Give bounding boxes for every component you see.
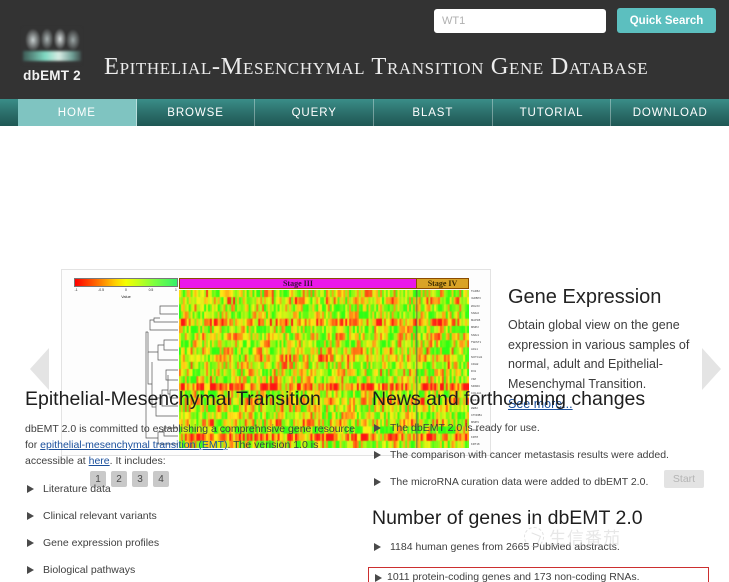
news-section-title: News and forthcoming changes [372,388,709,411]
heatmap-column-groups: Stage III Stage IV [179,278,469,289]
nav-item-home[interactable]: HOME [18,99,137,126]
search-area: Quick Search [434,8,716,33]
emt-description: dbEMT 2.0 is committed to establishing a… [25,421,360,469]
list-item[interactable]: Literature data [25,482,360,496]
row-label: VIM [471,379,491,382]
colorbar-ticks: -1 -0.5 0 0.5 1 [74,287,178,295]
list-item[interactable]: Clinical relevant variants [25,509,360,523]
carousel-prev-arrow-icon[interactable] [30,348,49,390]
row-label: MAP1B [471,320,491,323]
colorbar-tick-4: 1 [175,288,177,292]
page-root: Quick Search dbEMT 2 Epithelial-Mesenchy… [0,0,729,582]
row-label: CDH2 [471,364,491,367]
list-item: The comparison with cancer metastasis re… [372,448,709,462]
site-logo[interactable]: dbEMT 2 [16,26,88,92]
colorbar-tick-1: -0.5 [98,288,104,292]
news-list: The dbEMT 2.0 is ready for use. The comp… [372,421,709,489]
gene-counts-list: 1184 human genes from 2665 PubMed abstra… [372,540,709,582]
row-label: SNAI1 [471,335,491,338]
emt-section-title: Epithelial-Mesenchymal Transition [25,388,360,411]
emt-text-3: . It includes: [110,455,166,467]
nav-left-edge [0,99,18,126]
row-label: NOTCH1 [471,357,491,360]
gene-counts-section-title: Number of genes in dbEMT 2.0 [372,507,709,530]
list-item-highlighted: 1011 protein-coding genes and 173 non-co… [368,567,709,582]
column-group-stage-3: Stage III [179,278,417,289]
colorbar-tick-2: 0 [125,288,127,292]
search-input[interactable] [434,9,606,33]
nav-item-browse[interactable]: BROWSE [137,99,256,126]
row-label: IGFBP3 [471,298,491,301]
emt-feature-list: Literature data Clinical relevant varian… [25,482,360,577]
carousel-next-arrow-icon[interactable] [702,348,721,390]
hero-carousel: -1 -0.5 0 0.5 1 Value [0,126,729,371]
row-label: TGFB2 [471,291,491,294]
list-item[interactable]: Gene expression profiles [25,536,360,550]
nav-item-query[interactable]: QUERY [255,99,374,126]
row-label: SNAI2 [471,313,491,316]
row-label: JAG1 [471,349,491,352]
column-group-stage-4: Stage IV [417,278,469,289]
main-navigation: HOME BROWSE QUERY BLAST TUTORIAL DOWNLOA… [0,99,729,126]
row-label: TWIST1 [471,342,491,345]
list-item: The dbEMT 2.0 is ready for use. [372,421,709,435]
row-label: FN1 [471,371,491,374]
left-column: Epithelial-Mesenchymal Transition dbEMT … [0,388,360,582]
main-content: Epithelial-Mesenchymal Transition dbEMT … [0,388,729,582]
list-item: The microRNA curation data were added to… [372,475,709,489]
colorbar-tick-0: -1 [75,288,78,292]
colorbar-axis-label: Value [74,295,178,299]
row-label: MMP2 [471,327,491,330]
right-column: News and forthcoming changes The dbEMT 2… [360,388,709,582]
emt-link[interactable]: epithelial-mesenchymal transition (EMT) [40,439,227,451]
slide-description: Obtain global view on the gene expressio… [508,316,698,394]
list-item: 1184 human genes from 2665 PubMed abstra… [372,540,709,554]
logo-label: dbEMT 2 [16,68,88,83]
page-title: Epithelial-Mesenchymal Transition Gene D… [104,53,720,81]
quick-search-button[interactable]: Quick Search [617,8,716,33]
list-item[interactable]: Biological pathways [25,563,360,577]
nav-item-download[interactable]: DOWNLOAD [611,99,729,126]
version-here-link[interactable]: here [89,455,110,467]
nav-item-tutorial[interactable]: TUTORIAL [493,99,612,126]
heatmap-colorbar: -1 -0.5 0 0.5 1 Value [74,278,178,299]
slide-title: Gene Expression [508,286,698,309]
logo-gel-image-icon [21,26,83,66]
colorbar-tick-3: 0.5 [149,288,154,292]
nav-item-blast[interactable]: BLAST [374,99,493,126]
colorbar-gradient [74,278,178,287]
site-header: Quick Search dbEMT 2 Epithelial-Mesenchy… [0,0,729,99]
row-label: ZFHX3 [471,306,491,309]
